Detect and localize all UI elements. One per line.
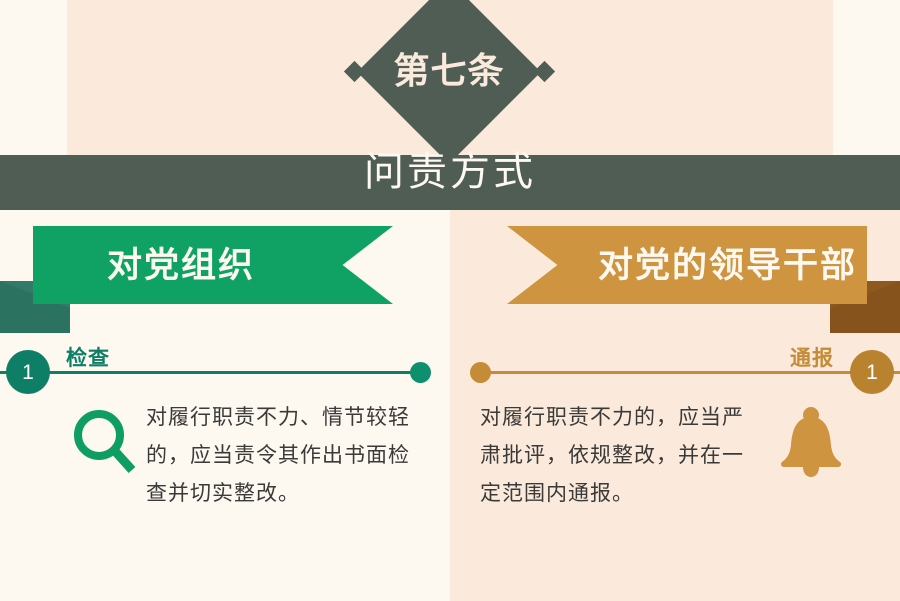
article-number-label: 第七条 xyxy=(414,2,484,142)
right-ribbon-banner: 对党的领导干部 xyxy=(507,226,867,304)
left-body-text: 对履行职责不力、情节较轻的，应当责令其作出书面检查并切实整改。 xyxy=(146,398,428,512)
page-title: 问责方式 xyxy=(0,152,900,192)
bell-icon xyxy=(776,405,846,477)
magnifier-icon xyxy=(72,408,138,474)
right-step-label: 通报 xyxy=(734,348,834,369)
left-ribbon-label: 对党组织 xyxy=(107,248,255,283)
left-timeline-end-dot xyxy=(410,362,431,383)
right-ribbon-label: 对党的领导干部 xyxy=(598,248,857,283)
left-step-number-badge: 1 xyxy=(6,350,50,394)
left-step-label: 检查 xyxy=(66,348,110,369)
right-step-number-badge: 1 xyxy=(850,350,894,394)
right-body-text: 对履行职责不力的，应当严肃批评，依规整改，并在一定范围内通报。 xyxy=(480,398,762,512)
left-ribbon-banner: 对党组织 xyxy=(33,226,393,304)
right-timeline-end-dot xyxy=(470,362,491,383)
right-timeline-line xyxy=(480,371,900,374)
infographic-slide: 第七条 问责方式 对党组织 对党的领导干部 1 检查 1 通报 对履行职 xyxy=(0,0,900,601)
left-timeline-line xyxy=(0,371,420,374)
